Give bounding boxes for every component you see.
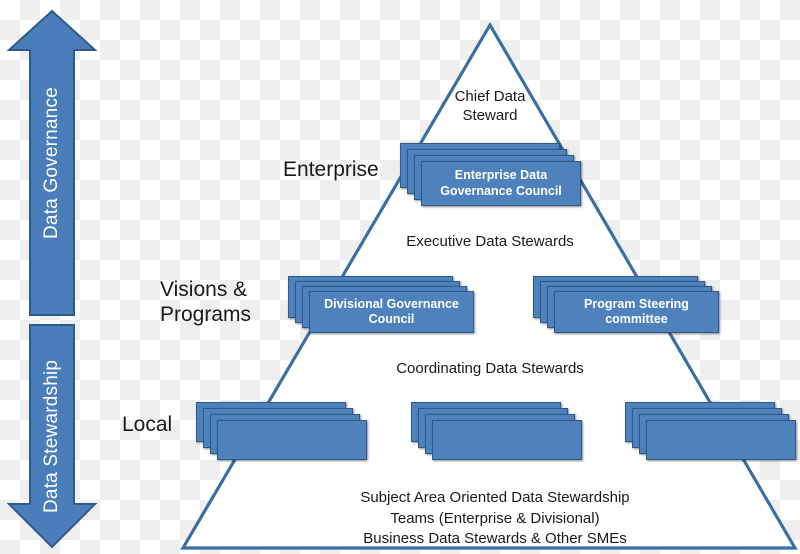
- arrow-label-data-stewardship: Data Stewardship: [6, 322, 98, 550]
- caption-chief-data-steward: Chief Data Steward: [420, 88, 560, 126]
- card-local-center[interactable]: [432, 420, 582, 460]
- card-local-left[interactable]: [217, 420, 367, 460]
- card-stack-local-center[interactable]: [411, 402, 601, 470]
- diagram-canvas: Data Governance Data Stewardship Enterpr…: [0, 0, 800, 554]
- arrow-data-governance: Data Governance: [6, 8, 98, 318]
- arrow-data-stewardship: Data Stewardship: [6, 322, 98, 550]
- card-stack-local-right[interactable]: [625, 402, 800, 470]
- caption-executive-data-stewards: Executive Data Stewards: [380, 233, 600, 250]
- card-stack-divisional-council[interactable]: Divisional Governance Council: [288, 276, 478, 340]
- card-enterprise-data-governance-council[interactable]: Enterprise Data Governance Council: [421, 161, 581, 206]
- card-stack-enterprise-council[interactable]: Enterprise Data Governance Council: [400, 143, 580, 211]
- tier-label-local: Local: [122, 413, 172, 438]
- card-local-right[interactable]: [646, 420, 796, 460]
- tier-label-visions-programs: Visions & Programs: [160, 278, 251, 328]
- card-stack-program-steering[interactable]: Program Steering committee: [533, 276, 723, 340]
- card-divisional-governance-council[interactable]: Divisional Governance Council: [309, 291, 474, 333]
- footer-description: Subject Area Oriented Data Stewardship T…: [290, 488, 700, 550]
- arrow-label-data-governance: Data Governance: [6, 8, 98, 318]
- tier-label-enterprise: Enterprise: [283, 158, 379, 183]
- caption-coordinating-data-stewards: Coordinating Data Stewards: [375, 360, 605, 377]
- card-stack-local-left[interactable]: [196, 402, 386, 470]
- card-program-steering-committee[interactable]: Program Steering committee: [554, 291, 719, 333]
